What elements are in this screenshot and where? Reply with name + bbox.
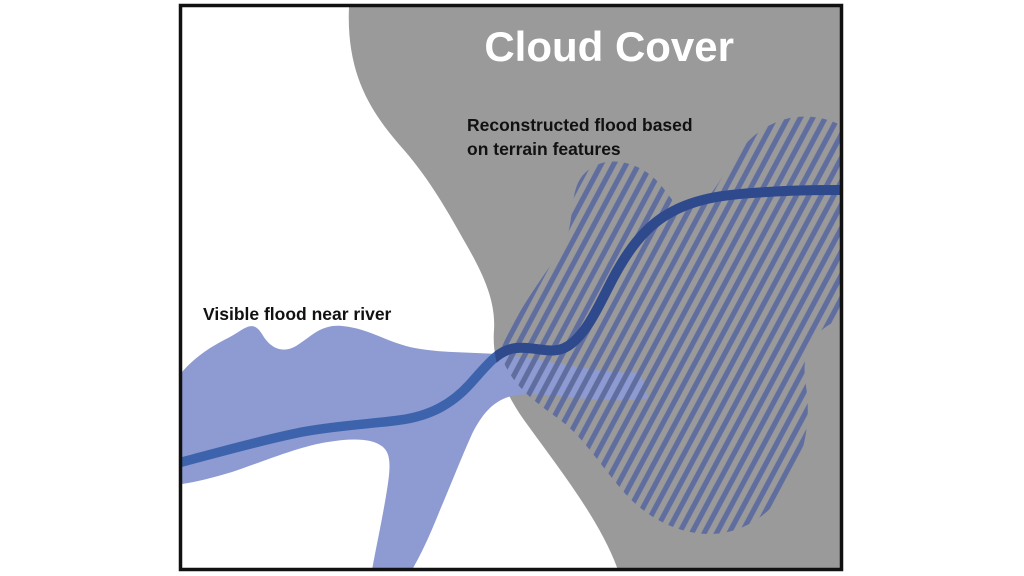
annotation-visible-flood: Visible flood near river: [203, 304, 392, 324]
annotation-reconstructed-flood-line2: on terrain features: [467, 139, 621, 159]
annotation-reconstructed-flood-line1: Reconstructed flood based: [467, 115, 693, 135]
flood-map-illustration: Cloud Cover Reconstructed flood based on…: [0, 0, 1024, 576]
figure-canvas: Cloud Cover Reconstructed flood based on…: [0, 0, 1024, 576]
figure-title: Cloud Cover: [484, 23, 734, 70]
